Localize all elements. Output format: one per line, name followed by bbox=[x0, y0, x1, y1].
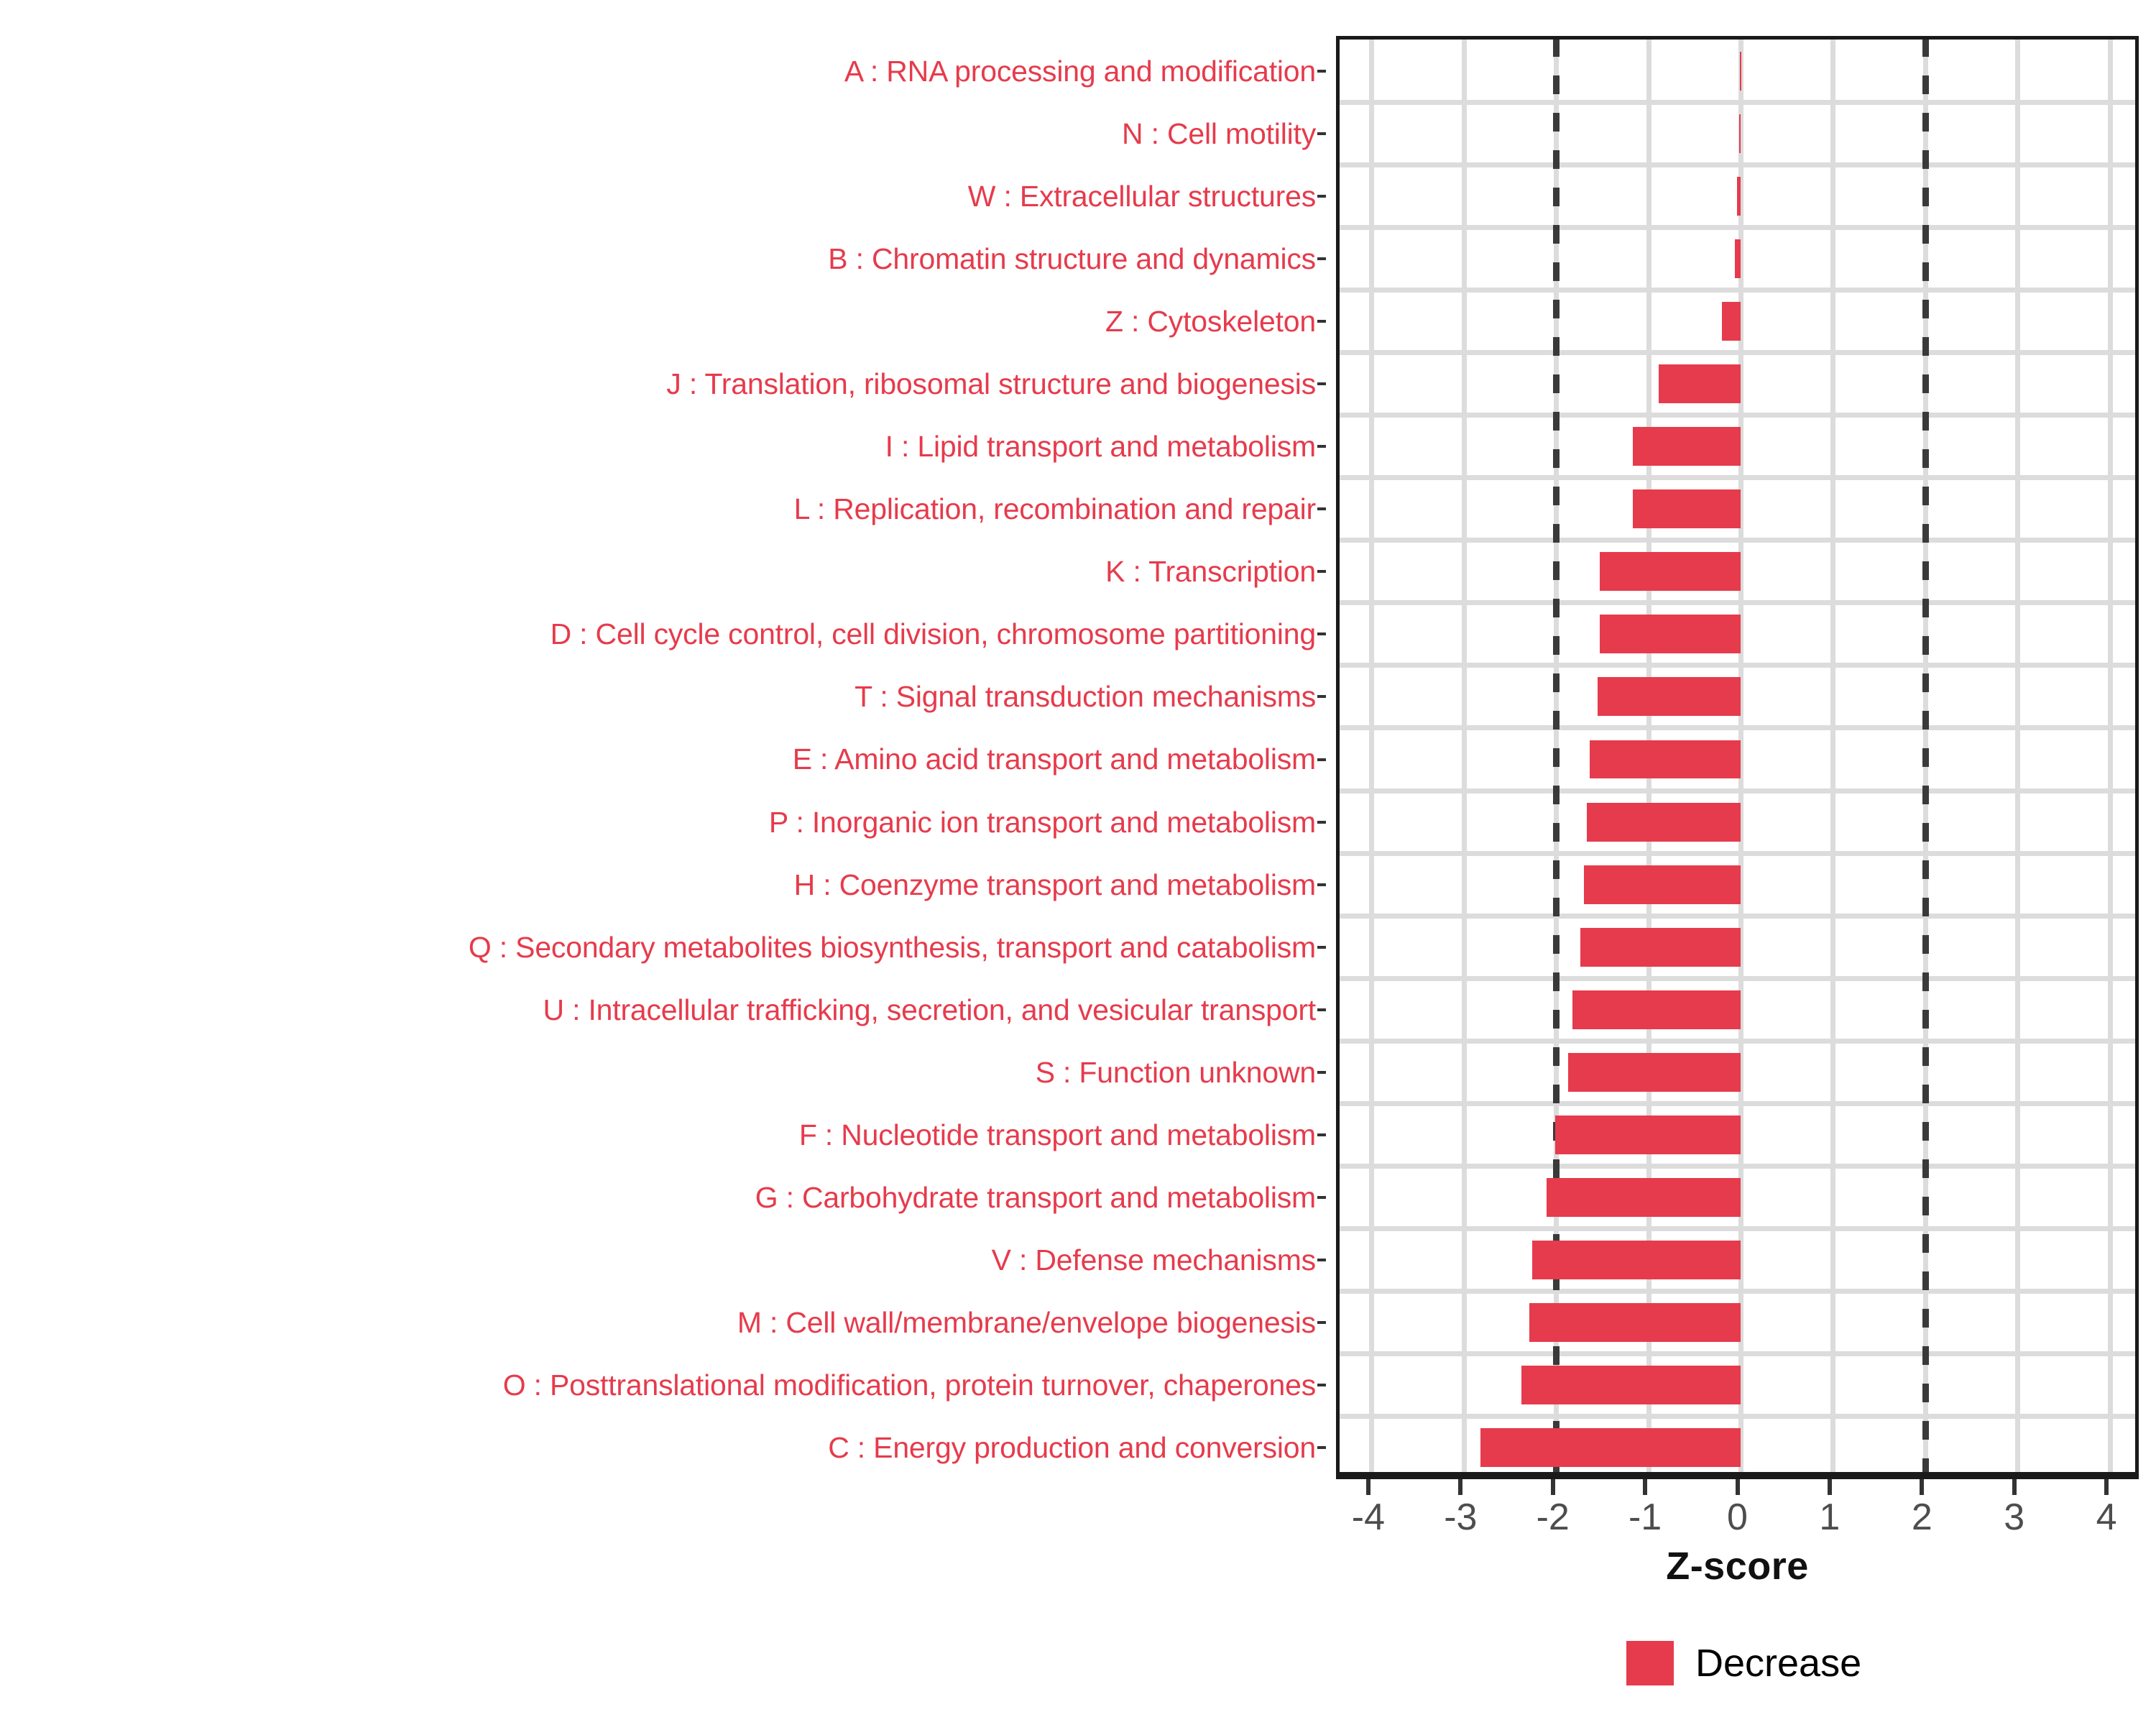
y-axis-tick bbox=[1317, 632, 1326, 635]
horizontal-gridline bbox=[1340, 1101, 2135, 1106]
x-axis-tick bbox=[1643, 1479, 1647, 1495]
y-axis-tick bbox=[1317, 195, 1326, 198]
category-label: W : Extracellular structures bbox=[968, 180, 1316, 212]
category-label: B : Chromatin structure and dynamics bbox=[828, 243, 1316, 275]
horizontal-gridline bbox=[1340, 413, 2135, 418]
bar[interactable] bbox=[1740, 52, 1741, 91]
horizontal-gridline bbox=[1340, 1414, 2135, 1419]
horizontal-gridline bbox=[1340, 350, 2135, 355]
category-label: I : Lipid transport and metabolism bbox=[885, 431, 1316, 462]
category-label: G : Carbohydrate transport and metabolis… bbox=[755, 1182, 1316, 1213]
category-label: E : Amino acid transport and metabolism bbox=[793, 743, 1316, 775]
cog-zscore-bar-chart: A : RNA processing and modificationN : C… bbox=[0, 0, 2156, 1725]
category-label-row: B : Chromatin structure and dynamics bbox=[0, 227, 1326, 290]
y-axis-tick bbox=[1317, 70, 1326, 73]
bar[interactable] bbox=[1555, 1115, 1741, 1154]
horizontal-gridline bbox=[1340, 1226, 2135, 1231]
category-label: M : Cell wall/membrane/envelope biogenes… bbox=[737, 1307, 1316, 1338]
horizontal-gridline bbox=[1340, 1289, 2135, 1294]
y-axis-tick bbox=[1317, 883, 1326, 886]
category-label-row: G : Carbohydrate transport and metabolis… bbox=[0, 1167, 1326, 1229]
category-label: Q : Secondary metabolites biosynthesis, … bbox=[469, 931, 1316, 963]
category-label-row: M : Cell wall/membrane/envelope biogenes… bbox=[0, 1292, 1326, 1354]
bar[interactable] bbox=[1600, 552, 1741, 591]
horizontal-gridline bbox=[1340, 1039, 2135, 1044]
category-label: T : Signal transduction mechanisms bbox=[854, 681, 1316, 712]
category-label-row: I : Lipid transport and metabolism bbox=[0, 415, 1326, 478]
vertical-gridline bbox=[1462, 40, 1467, 1472]
bar[interactable] bbox=[1584, 865, 1741, 904]
category-label: O : Posttranslational modification, prot… bbox=[503, 1369, 1316, 1401]
bar[interactable] bbox=[1590, 740, 1741, 779]
horizontal-gridline bbox=[1340, 663, 2135, 668]
y-axis-tick bbox=[1317, 1446, 1326, 1449]
x-axis-tick bbox=[1366, 1479, 1370, 1495]
x-axis-tick-label: 1 bbox=[1787, 1496, 1873, 1538]
category-label-row: J : Translation, ribosomal structure and… bbox=[0, 352, 1326, 415]
category-label: K : Transcription bbox=[1105, 556, 1316, 587]
category-label: C : Energy production and conversion bbox=[828, 1432, 1316, 1463]
category-label-row: C : Energy production and conversion bbox=[0, 1417, 1326, 1479]
horizontal-gridline bbox=[1340, 914, 2135, 919]
horizontal-gridline bbox=[1340, 976, 2135, 981]
bar[interactable] bbox=[1568, 1053, 1741, 1092]
category-label: N : Cell motility bbox=[1122, 118, 1316, 149]
bar[interactable] bbox=[1529, 1303, 1741, 1342]
y-axis-tick bbox=[1317, 1008, 1326, 1011]
horizontal-gridline bbox=[1340, 1351, 2135, 1356]
category-label-row: K : Transcription bbox=[0, 540, 1326, 603]
bar[interactable] bbox=[1521, 1366, 1741, 1404]
category-label: Z : Cytoskeleton bbox=[1105, 305, 1316, 337]
x-axis-tick bbox=[1458, 1479, 1462, 1495]
y-axis-tick bbox=[1317, 946, 1326, 949]
horizontal-gridline bbox=[1340, 538, 2135, 543]
bar[interactable] bbox=[1722, 302, 1741, 341]
category-label-row: Q : Secondary metabolites biosynthesis, … bbox=[0, 916, 1326, 978]
vertical-gridline bbox=[2108, 40, 2113, 1472]
category-label-row: D : Cell cycle control, cell division, c… bbox=[0, 603, 1326, 666]
y-axis-tick bbox=[1317, 1196, 1326, 1199]
bar[interactable] bbox=[1739, 114, 1741, 153]
bar[interactable] bbox=[1580, 928, 1741, 967]
horizontal-gridline bbox=[1340, 287, 2135, 293]
x-axis-tick-label: -4 bbox=[1325, 1496, 1411, 1538]
bar[interactable] bbox=[1572, 990, 1741, 1029]
y-axis-tick bbox=[1317, 132, 1326, 135]
horizontal-gridline bbox=[1340, 851, 2135, 856]
horizontal-gridline bbox=[1340, 725, 2135, 730]
x-axis-tick bbox=[1920, 1479, 1924, 1495]
horizontal-gridline bbox=[1340, 225, 2135, 230]
vertical-gridline bbox=[1830, 40, 1835, 1472]
bar[interactable] bbox=[1735, 239, 1741, 278]
x-axis-tick-label: -2 bbox=[1510, 1496, 1596, 1538]
category-label: S : Function unknown bbox=[1036, 1057, 1316, 1088]
x-axis-tick-label: 0 bbox=[1695, 1496, 1781, 1538]
y-axis-tick bbox=[1317, 1071, 1326, 1074]
vertical-gridline bbox=[1369, 40, 1374, 1472]
category-label-row: U : Intracellular trafficking, secretion… bbox=[0, 978, 1326, 1041]
x-axis-tick-label: 2 bbox=[1879, 1496, 1965, 1538]
x-axis-tick bbox=[1551, 1479, 1555, 1495]
bar[interactable] bbox=[1633, 489, 1741, 528]
y-axis-tick bbox=[1317, 257, 1326, 260]
x-axis-tick bbox=[2012, 1479, 2017, 1495]
x-axis-tick bbox=[1736, 1479, 1740, 1495]
horizontal-gridline bbox=[1340, 100, 2135, 105]
reference-line-plus2 bbox=[1922, 38, 1929, 1473]
category-label: D : Cell cycle control, cell division, c… bbox=[550, 618, 1316, 650]
y-axis-tick bbox=[1317, 1133, 1326, 1136]
category-label-row: O : Posttranslational modification, prot… bbox=[0, 1354, 1326, 1417]
category-label: H : Coenzyme transport and metabolism bbox=[794, 869, 1316, 901]
bar[interactable] bbox=[1633, 427, 1741, 466]
category-label-row: Z : Cytoskeleton bbox=[0, 290, 1326, 352]
bar[interactable] bbox=[1480, 1428, 1741, 1467]
category-label: V : Defense mechanisms bbox=[992, 1244, 1316, 1276]
bar[interactable] bbox=[1598, 677, 1741, 716]
y-axis-tick bbox=[1317, 320, 1326, 323]
category-label-row: N : Cell motility bbox=[0, 102, 1326, 165]
y-axis-tick bbox=[1317, 1321, 1326, 1324]
category-label-row: V : Defense mechanisms bbox=[0, 1229, 1326, 1292]
y-axis-tick bbox=[1317, 445, 1326, 448]
y-axis-tick bbox=[1317, 1384, 1326, 1386]
x-axis-tick bbox=[1828, 1479, 1832, 1495]
horizontal-gridline bbox=[1340, 162, 2135, 167]
horizontal-gridline bbox=[1340, 788, 2135, 793]
y-axis-tick bbox=[1317, 507, 1326, 510]
category-label: P : Inorganic ion transport and metaboli… bbox=[769, 806, 1316, 838]
bar[interactable] bbox=[1532, 1241, 1741, 1279]
x-axis-tick bbox=[2104, 1479, 2109, 1495]
category-label: J : Translation, ribosomal structure and… bbox=[666, 368, 1316, 400]
category-label-row: W : Extracellular structures bbox=[0, 165, 1326, 227]
category-axis-labels: A : RNA processing and modificationN : C… bbox=[0, 40, 1326, 1476]
category-label: A : RNA processing and modification bbox=[844, 55, 1316, 87]
x-axis-tick-label: -3 bbox=[1417, 1496, 1503, 1538]
category-label-row: S : Function unknown bbox=[0, 1041, 1326, 1103]
y-axis-tick bbox=[1317, 382, 1326, 385]
legend: Decrease bbox=[1626, 1641, 1861, 1685]
bar[interactable] bbox=[1659, 364, 1741, 403]
category-label-row: P : Inorganic ion transport and metaboli… bbox=[0, 791, 1326, 853]
bar[interactable] bbox=[1587, 803, 1741, 842]
category-label-row: E : Amino acid transport and metabolism bbox=[0, 728, 1326, 791]
y-axis-tick bbox=[1317, 758, 1326, 761]
category-label-row: F : Nucleotide transport and metabolism bbox=[0, 1103, 1326, 1166]
bar[interactable] bbox=[1547, 1178, 1741, 1217]
x-axis-title: Z-score bbox=[1336, 1544, 2139, 1588]
plot-panel bbox=[1336, 36, 2139, 1476]
x-axis-tick-label: -1 bbox=[1602, 1496, 1688, 1538]
legend-swatch-decrease bbox=[1626, 1641, 1674, 1685]
horizontal-gridline bbox=[1340, 600, 2135, 605]
bar[interactable] bbox=[1600, 615, 1741, 653]
category-label-row: T : Signal transduction mechanisms bbox=[0, 666, 1326, 728]
category-label-row: A : RNA processing and modification bbox=[0, 40, 1326, 102]
category-label-row: L : Replication, recombination and repai… bbox=[0, 478, 1326, 540]
y-axis-tick bbox=[1317, 570, 1326, 573]
bar[interactable] bbox=[1737, 177, 1741, 216]
category-label: U : Intracellular trafficking, secretion… bbox=[543, 994, 1316, 1026]
y-axis-tick bbox=[1317, 1259, 1326, 1261]
vertical-gridline bbox=[2015, 40, 2020, 1472]
y-axis-tick bbox=[1317, 821, 1326, 824]
horizontal-gridline bbox=[1340, 1164, 2135, 1169]
y-axis-tick bbox=[1317, 695, 1326, 698]
x-axis-tick-label: 3 bbox=[1971, 1496, 2058, 1538]
category-label-row: H : Coenzyme transport and metabolism bbox=[0, 853, 1326, 916]
category-label: F : Nucleotide transport and metabolism bbox=[799, 1119, 1316, 1151]
x-axis-tick-label: 4 bbox=[2063, 1496, 2150, 1538]
horizontal-gridline bbox=[1340, 475, 2135, 480]
category-label: L : Replication, recombination and repai… bbox=[794, 493, 1316, 525]
legend-label-decrease: Decrease bbox=[1695, 1641, 1861, 1685]
